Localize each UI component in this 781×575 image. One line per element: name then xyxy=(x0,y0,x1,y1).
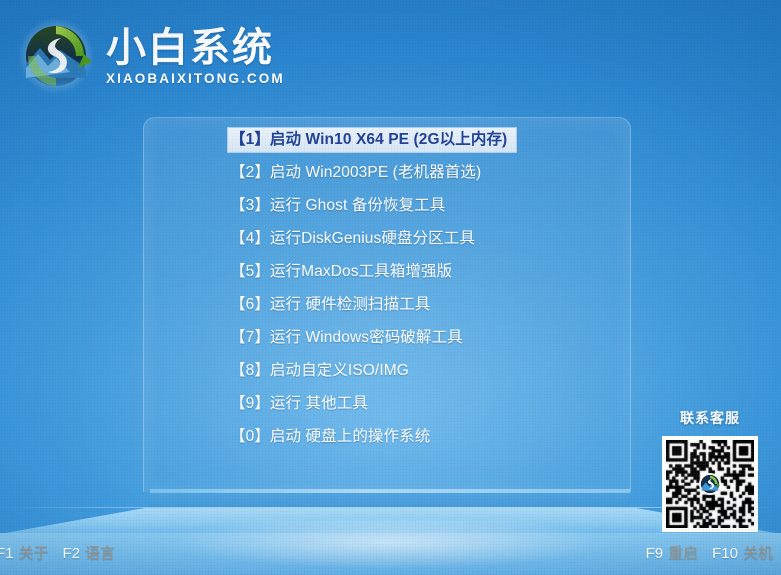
boot-menu-list[interactable]: 【1】启动 Win10 X64 PE (2G以上内存)【2】启动 Win2003… xyxy=(228,128,548,458)
hotkey-key-f10[interactable]: F10 xyxy=(712,545,738,562)
boot-menu-item-9[interactable]: 【9】运行 其他工具 xyxy=(228,392,374,416)
contact-support-block: 联系客服 xyxy=(655,408,765,532)
boot-menu-item-4[interactable]: 【4】运行DiskGenius硬盘分区工具 xyxy=(228,227,481,251)
boot-menu-screen: 小白系统 XIAOBAIXITONG.COM 【1】启动 Win10 X64 P… xyxy=(0,0,781,575)
hotkey-label-f10[interactable]: 关机 xyxy=(743,545,773,562)
boot-menu-item-5[interactable]: 【5】运行MaxDos工具箱增强版 xyxy=(228,260,458,284)
hotkey-key-f1[interactable]: F1 xyxy=(0,545,14,562)
globe-refresh-logo-icon xyxy=(16,16,96,96)
boot-menu-item-1[interactable]: 【1】启动 Win10 X64 PE (2G以上内存) xyxy=(228,128,516,152)
boot-menu-item-8[interactable]: 【8】启动自定义ISO/IMG xyxy=(228,359,415,383)
brand-name-en: XIAOBAIXITONG.COM xyxy=(106,71,285,86)
hotkey-label-f2[interactable]: 语言 xyxy=(85,545,115,562)
qr-code-icon xyxy=(662,436,758,532)
hotkeys-left[interactable]: F1关于F2语言 xyxy=(0,542,115,563)
brand-logo: 小白系统 XIAOBAIXITONG.COM xyxy=(16,16,285,96)
boot-menu-item-6[interactable]: 【6】运行 硬件检测扫描工具 xyxy=(228,293,436,317)
qr-center-logo-icon xyxy=(699,473,721,495)
hotkey-key-f9[interactable]: F9 xyxy=(646,545,664,562)
contact-support-title: 联系客服 xyxy=(655,408,765,428)
brand-name-cn: 小白系统 xyxy=(106,27,285,69)
boot-menu-item-10[interactable]: 【0】启动 硬盘上的操作系统 xyxy=(228,425,436,449)
boot-menu-item-3[interactable]: 【3】运行 Ghost 备份恢复工具 xyxy=(228,194,451,218)
hotkey-label-f9[interactable]: 重启 xyxy=(668,545,698,562)
boot-menu-item-2[interactable]: 【2】启动 Win2003PE (老机器首选) xyxy=(228,161,487,185)
hotkey-label-f1[interactable]: 关于 xyxy=(19,545,49,562)
brand-text: 小白系统 XIAOBAIXITONG.COM xyxy=(106,27,285,86)
hotkey-key-f2[interactable]: F2 xyxy=(63,545,81,562)
boot-menu-item-7[interactable]: 【7】运行 Windows密码破解工具 xyxy=(228,326,469,350)
hotkeys-right[interactable]: F9重启F10关机 xyxy=(646,542,773,563)
